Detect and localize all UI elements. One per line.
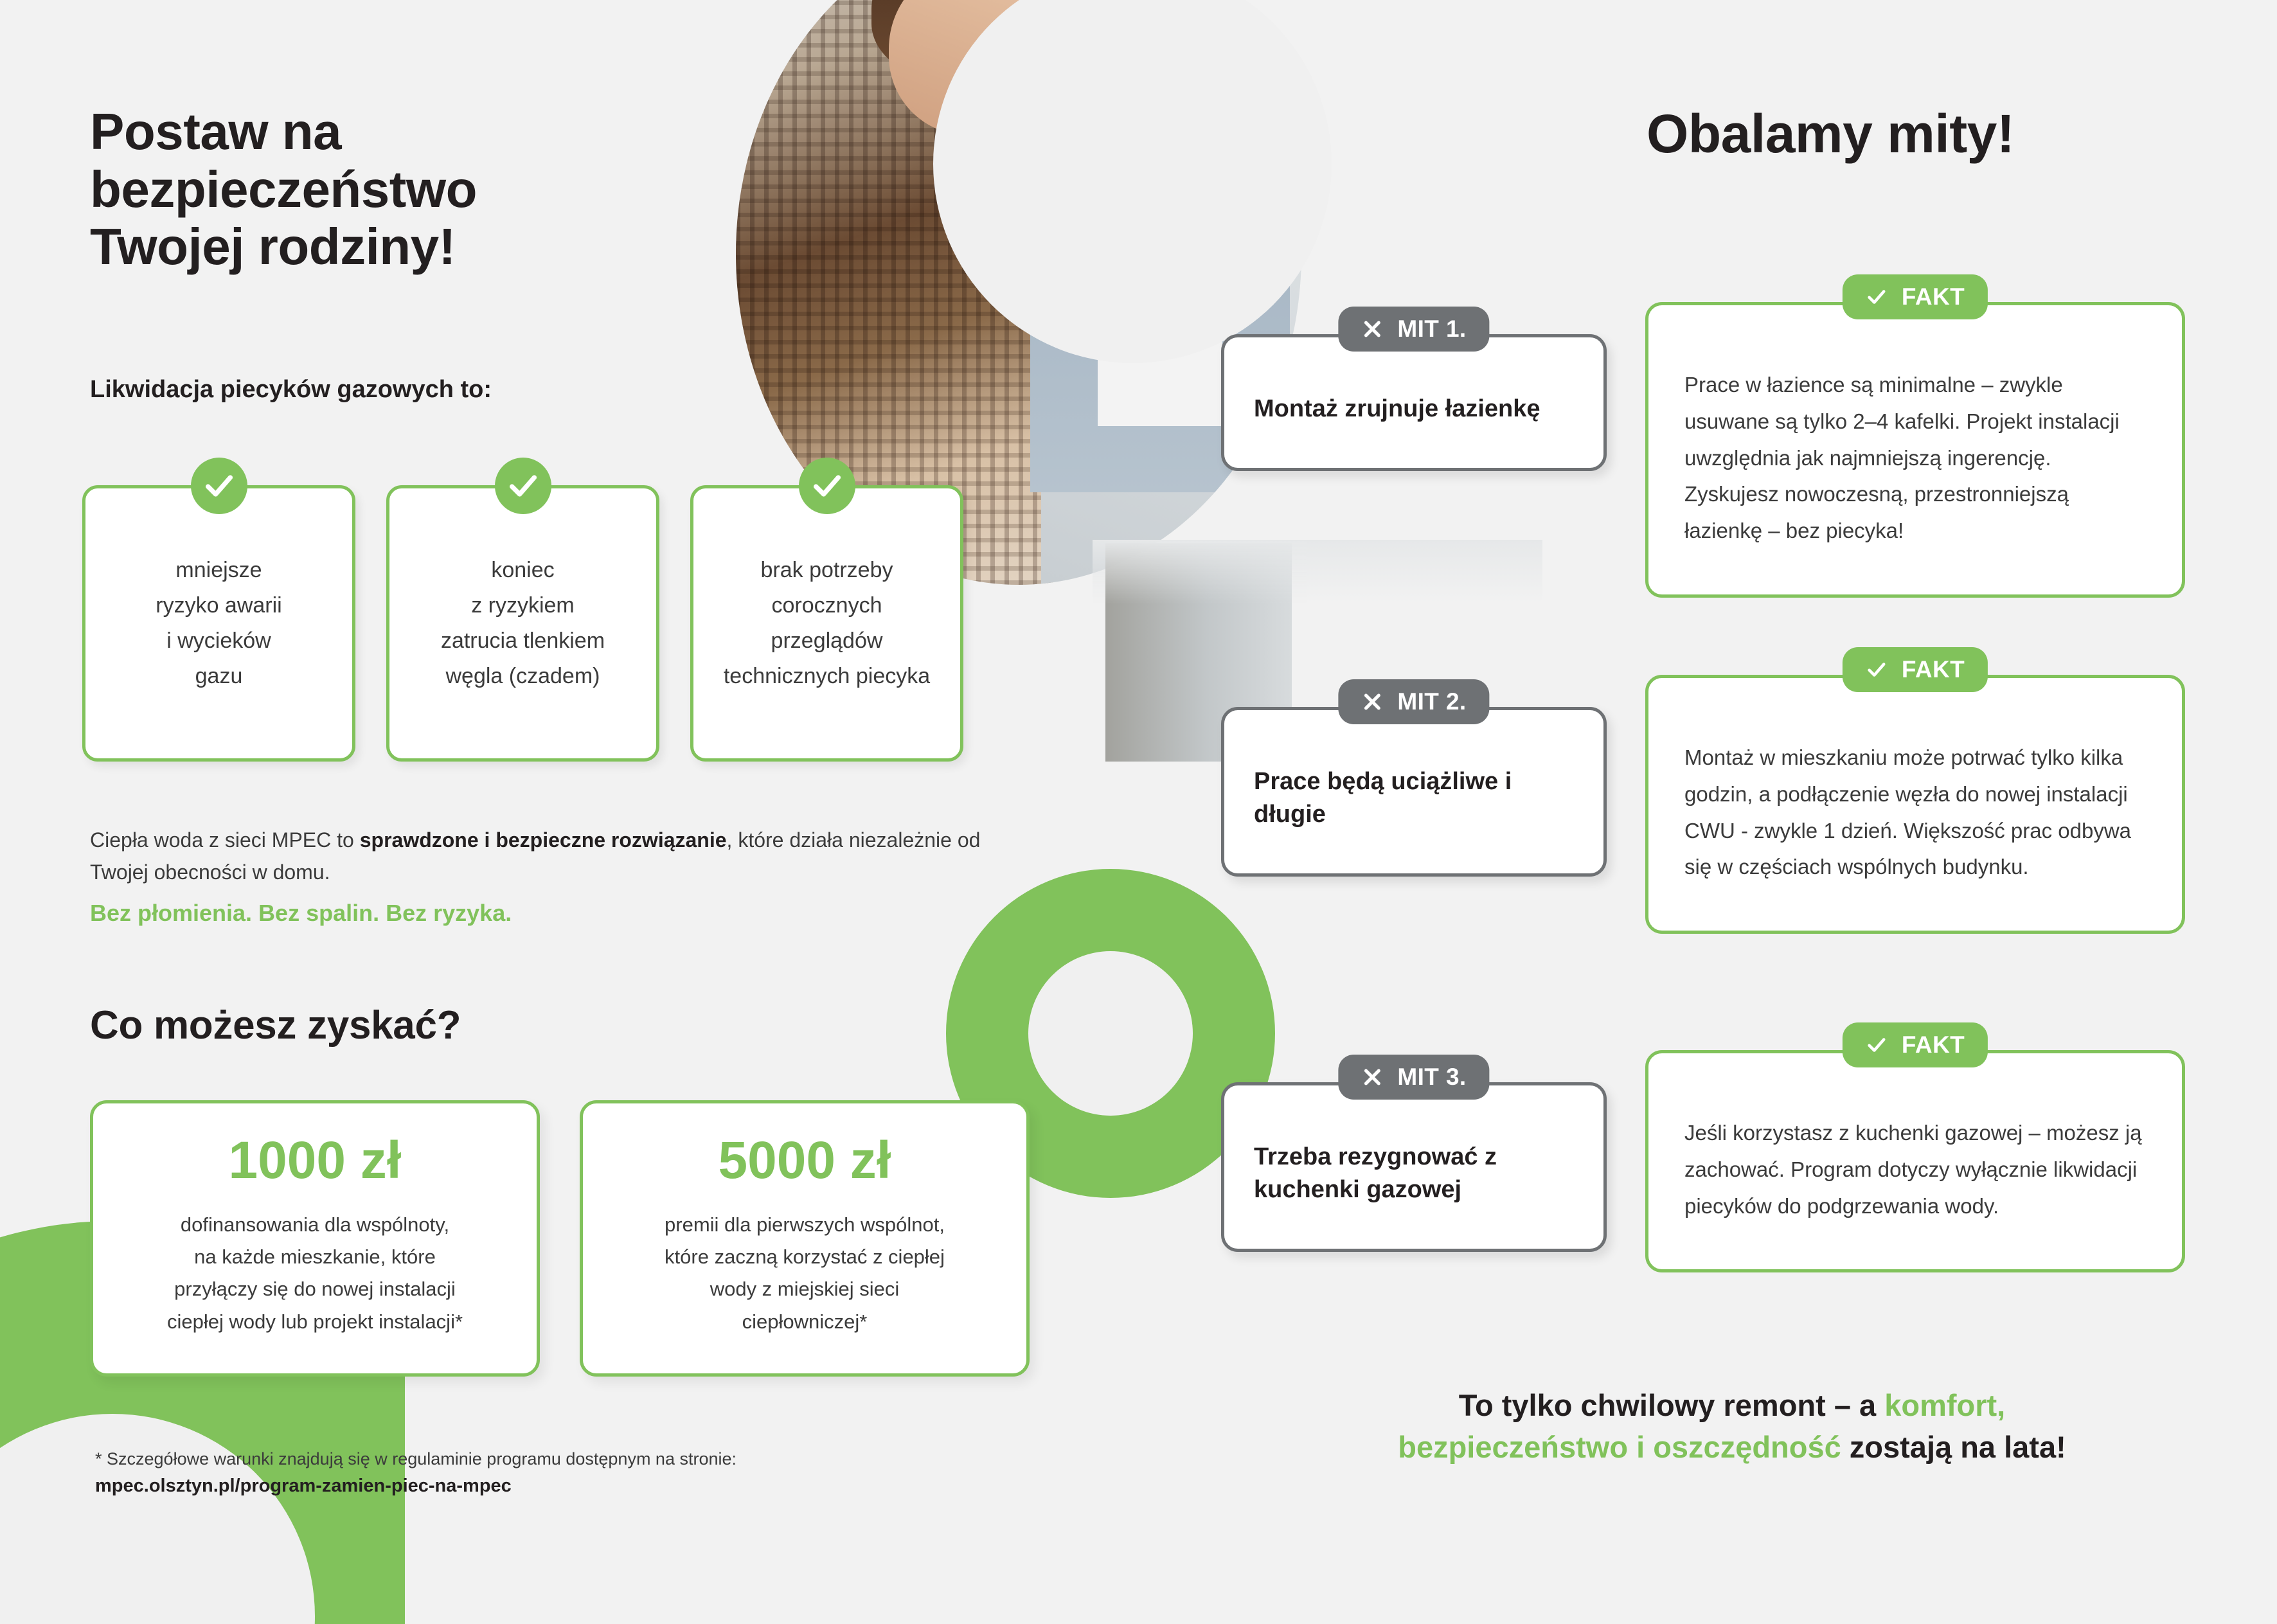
- fact-statement-card: FAKT Jeśli korzystasz z kuchenki gazowej…: [1645, 1050, 2185, 1272]
- footnote-url[interactable]: mpec.olsztyn.pl/program-zamien-piec-na-m…: [95, 1476, 1008, 1497]
- benefit-card-list: mniejsze ryzyko awarii i wycieków gazu k…: [82, 485, 963, 762]
- check-icon: [1866, 1034, 1888, 1056]
- closing-part2: zostają na lata!: [1841, 1430, 2066, 1464]
- fact-card-1: FAKT Prace w łazience są minimalne – zwy…: [1645, 302, 2185, 598]
- fact-badge: FAKT: [1843, 647, 1988, 692]
- footnote-text: * Szczegółowe warunki znajdują się w reg…: [95, 1447, 1008, 1472]
- close-icon: [1361, 318, 1383, 340]
- page-title: Postaw na bezpieczeństwo Twojej rodziny!: [90, 103, 668, 276]
- infographic-root: Postaw na bezpieczeństwo Twojej rodziny!…: [0, 0, 2277, 1624]
- close-icon: [1361, 691, 1383, 713]
- myth-card-1: MIT 1. Montaż zrujnuje łazienkę: [1221, 334, 1607, 471]
- myth-badge: MIT 3.: [1338, 1055, 1489, 1100]
- gain-card-description: premii dla pierwszych wspólnot, które za…: [643, 1209, 967, 1338]
- benefit-card-text: mniejsze ryzyko awarii i wycieków gazu: [144, 553, 293, 694]
- benefit-card: brak potrzeby corocznych przeglądów tech…: [690, 485, 963, 762]
- intro-paragraph: Ciepła woda z sieci MPEC to sprawdzone i…: [90, 825, 990, 888]
- gain-card-list: 1000 zł dofinansowania dla wspólnoty, na…: [90, 1100, 1030, 1377]
- fact-badge-label: FAKT: [1902, 656, 1965, 683]
- fact-statement-card: FAKT Prace w łazience są minimalne – zwy…: [1645, 302, 2185, 598]
- myth-badge-label: MIT 2.: [1397, 688, 1466, 715]
- fact-text: Jeśli korzystasz z kuchenki gazowej – mo…: [1684, 1115, 2146, 1224]
- gain-card-amount: 5000 zł: [719, 1134, 891, 1187]
- closing-part1: To tylko chwilowy remont – a: [1459, 1388, 1884, 1422]
- benefit-card: mniejsze ryzyko awarii i wycieków gazu: [82, 485, 355, 762]
- check-icon: [799, 458, 855, 514]
- close-icon: [1361, 1066, 1383, 1088]
- fact-card-2: FAKT Montaż w mieszkaniu może potrwać ty…: [1645, 675, 2185, 934]
- myth-badge: MIT 1.: [1338, 307, 1489, 352]
- closing-green-2: bezpieczeństwo i oszczędność: [1398, 1430, 1841, 1464]
- check-icon: [191, 458, 247, 514]
- check-icon: [1866, 286, 1888, 308]
- benefit-card-text: koniec z ryzykiem zatrucia tlenkiem węgl…: [429, 553, 616, 694]
- closing-green-1: komfort,: [1884, 1388, 2005, 1422]
- myth-badge-label: MIT 1.: [1397, 316, 1466, 343]
- closing-statement: To tylko chwilowy remont – a komfort,bez…: [1263, 1385, 2201, 1468]
- fact-badge-label: FAKT: [1902, 283, 1965, 310]
- myth-badge: MIT 2.: [1338, 679, 1489, 724]
- myth-title: Prace będą uciążliwe i długie: [1254, 765, 1574, 831]
- gain-card-description: dofinansowania dla wspólnoty, na każde m…: [145, 1209, 485, 1338]
- myth-card-3: MIT 3. Trzeba rezygnować z kuchenki gazo…: [1221, 1082, 1607, 1252]
- fact-badge-label: FAKT: [1902, 1031, 1965, 1058]
- intro-paragraph-bold: sprawdzone i bezpieczne rozwiązanie: [360, 828, 727, 852]
- fact-badge: FAKT: [1843, 1022, 1988, 1067]
- content-layer: Postaw na bezpieczeństwo Twojej rodziny!…: [0, 0, 2277, 1624]
- myth-title: Trzeba rezygnować z kuchenki gazowej: [1254, 1141, 1574, 1206]
- fact-text: Montaż w mieszkaniu może potrwać tylko k…: [1684, 740, 2146, 886]
- benefit-card-text: brak potrzeby corocznych przeglądów tech…: [712, 553, 942, 694]
- page-title-line-1: Postaw na: [90, 103, 668, 161]
- fact-statement-card: FAKT Montaż w mieszkaniu może potrwać ty…: [1645, 675, 2185, 934]
- fact-card-3: FAKT Jeśli korzystasz z kuchenki gazowej…: [1645, 1050, 2185, 1272]
- page-title-line-3: Twojej rodziny!: [90, 218, 668, 276]
- intro-paragraph-part1: Ciepła woda z sieci MPEC to: [90, 828, 360, 852]
- myths-title: Obalamy mity!: [1647, 103, 2014, 165]
- page-title-line-2: bezpieczeństwo: [90, 161, 668, 219]
- fact-badge: FAKT: [1843, 274, 1988, 319]
- gain-card-amount: 1000 zł: [229, 1134, 402, 1187]
- myth-statement-card: MIT 2. Prace będą uciążliwe i długie: [1221, 707, 1607, 877]
- myth-statement-card: MIT 1. Montaż zrujnuje łazienkę: [1221, 334, 1607, 471]
- footnote: * Szczegółowe warunki znajdują się w reg…: [95, 1447, 1008, 1497]
- myth-statement-card: MIT 3. Trzeba rezygnować z kuchenki gazo…: [1221, 1082, 1607, 1252]
- myth-title: Montaż zrujnuje łazienkę: [1254, 393, 1574, 425]
- gain-card: 5000 zł premii dla pierwszych wspólnot, …: [580, 1100, 1030, 1377]
- myth-badge-label: MIT 3.: [1397, 1064, 1466, 1091]
- fact-text: Prace w łazience są minimalne – zwykle u…: [1684, 367, 2146, 549]
- check-icon: [1866, 659, 1888, 681]
- myth-card-2: MIT 2. Prace będą uciążliwe i długie: [1221, 707, 1607, 877]
- check-icon: [495, 458, 551, 514]
- gain-heading: Co możesz zyskać?: [90, 1003, 461, 1048]
- gain-card: 1000 zł dofinansowania dla wspólnoty, na…: [90, 1100, 540, 1377]
- green-tagline: Bez płomienia. Bez spalin. Bez ryzyka.: [90, 900, 512, 927]
- benefits-subheading: Likwidacja piecyków gazowych to:: [90, 376, 492, 404]
- benefit-card: koniec z ryzykiem zatrucia tlenkiem węgl…: [386, 485, 659, 762]
